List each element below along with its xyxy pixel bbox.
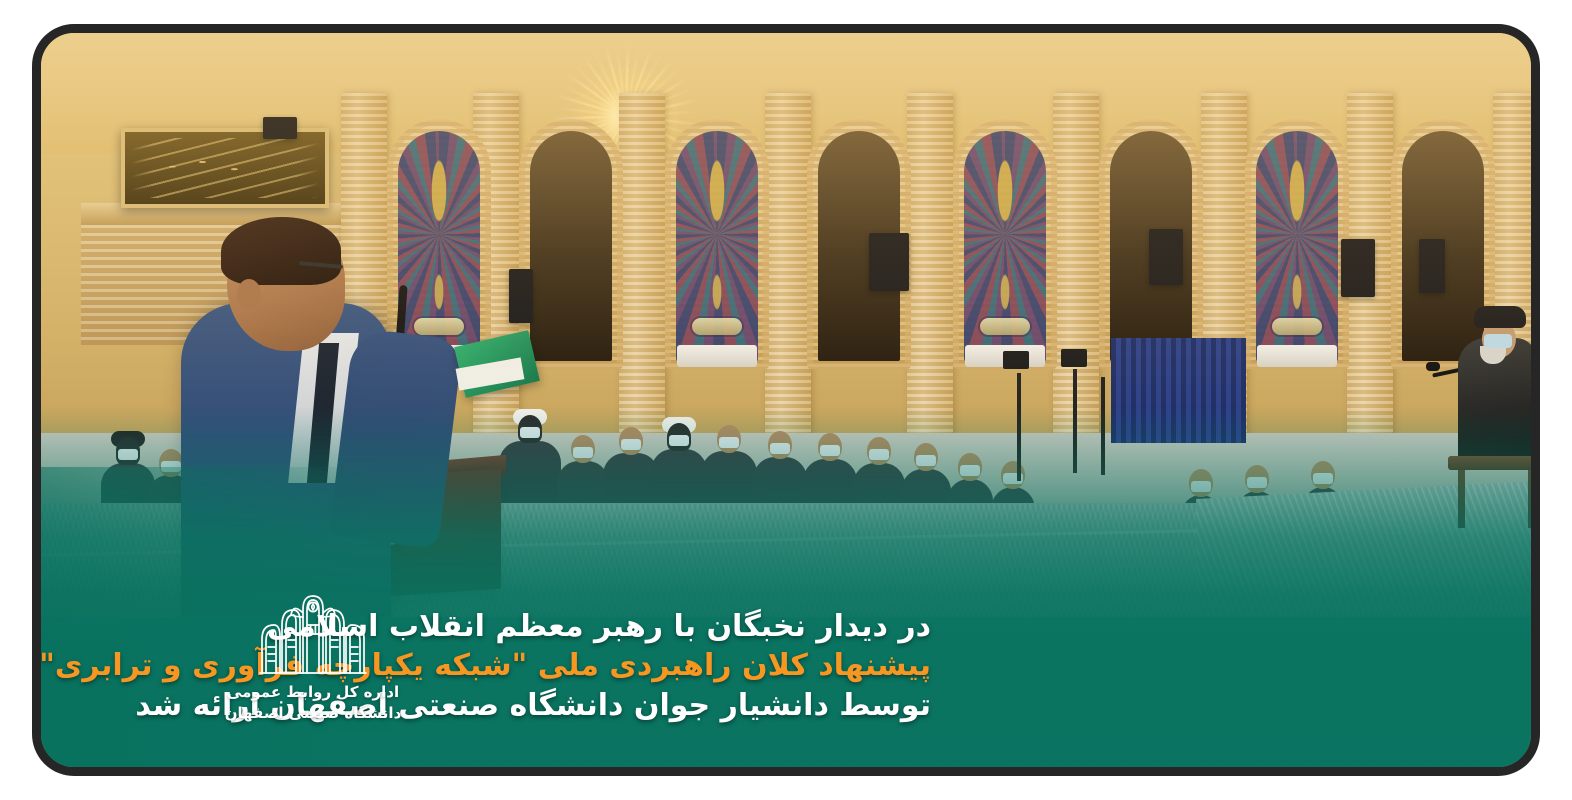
- arch-plaque: [414, 318, 464, 335]
- face-mask: [161, 461, 181, 472]
- tiled-arch-niche: [953, 119, 1057, 369]
- ceiling-light: [263, 117, 297, 139]
- face-mask: [820, 445, 840, 456]
- camera-tripod: [1101, 377, 1105, 475]
- hanging-speaker: [509, 269, 533, 323]
- hanging-speaker: [1419, 239, 1445, 293]
- face-mask: [719, 437, 739, 448]
- face-mask: [520, 427, 540, 438]
- logo-line-1: اداره کل روابط عمومی: [223, 682, 403, 704]
- tiled-arch-niche: [1245, 119, 1349, 369]
- face-mask: [1247, 477, 1267, 488]
- face-mask: [770, 443, 790, 454]
- face-mask: [573, 447, 593, 458]
- chair-leg: [1528, 470, 1531, 528]
- arch-plaque: [980, 318, 1030, 335]
- hanging-speaker: [869, 233, 909, 291]
- hanging-speaker: [1341, 239, 1375, 297]
- video-camera: [1003, 351, 1029, 369]
- calligraphy-script: [131, 138, 319, 198]
- banner-stage: در دیدار نخبگان با رهبر معظم انقلاب اسلا…: [41, 33, 1531, 767]
- face-mask: [1313, 473, 1333, 484]
- arch-plaque: [1272, 318, 1322, 335]
- chair-seat: [1448, 456, 1531, 470]
- face-mask: [869, 449, 889, 460]
- supreme-leader-figure: [1436, 298, 1531, 528]
- headline-line-3: توسط دانشیار جوان دانشگاه صنعتی اصفهان ا…: [41, 688, 931, 723]
- calligraphy-panel: [121, 128, 329, 208]
- speaker-ear: [237, 279, 261, 309]
- face-mask: [1484, 334, 1512, 348]
- face-mask: [621, 439, 641, 450]
- doorway-shadow: [530, 131, 612, 361]
- headline-line-1: در دیدار نخبگان با رهبر معظم انقلاب اسلا…: [41, 609, 931, 644]
- arch-doorway: [519, 119, 623, 369]
- face-mask: [118, 449, 138, 460]
- chair-leg: [1458, 470, 1465, 528]
- headline-line-2: پیشنهاد کلان راهبردی ملی "شبکه یکپارچه ف…: [41, 648, 931, 683]
- microphone-head: [1426, 362, 1440, 371]
- face-mask: [916, 455, 936, 466]
- public-relations-logo: اداره کل روابط عمومی دانشگاه صنعتی اصفها…: [223, 587, 403, 726]
- camera-tripod: [1073, 369, 1077, 473]
- hanging-speaker: [1149, 229, 1183, 285]
- logo-line-2: دانشگاه صنعتی اصفهان: [223, 703, 403, 725]
- speaker-hair: [221, 217, 341, 285]
- face-mask: [669, 435, 689, 446]
- headline-block: در دیدار نخبگان با رهبر معظم انقلاب اسلا…: [41, 609, 931, 723]
- face-mask: [1191, 481, 1211, 492]
- camera-tripod: [1017, 373, 1021, 481]
- video-camera: [1061, 349, 1087, 367]
- turban: [1474, 306, 1526, 328]
- news-banner: در دیدار نخبگان با رهبر معظم انقلاب اسلا…: [0, 0, 1572, 800]
- iut-arches-logo-icon: [238, 587, 388, 675]
- banner-frame: در دیدار نخبگان با رهبر معظم انقلاب اسلا…: [32, 24, 1540, 776]
- tiled-arch-niche: [665, 119, 769, 369]
- arch-plaque: [692, 318, 742, 335]
- face-mask: [960, 465, 980, 476]
